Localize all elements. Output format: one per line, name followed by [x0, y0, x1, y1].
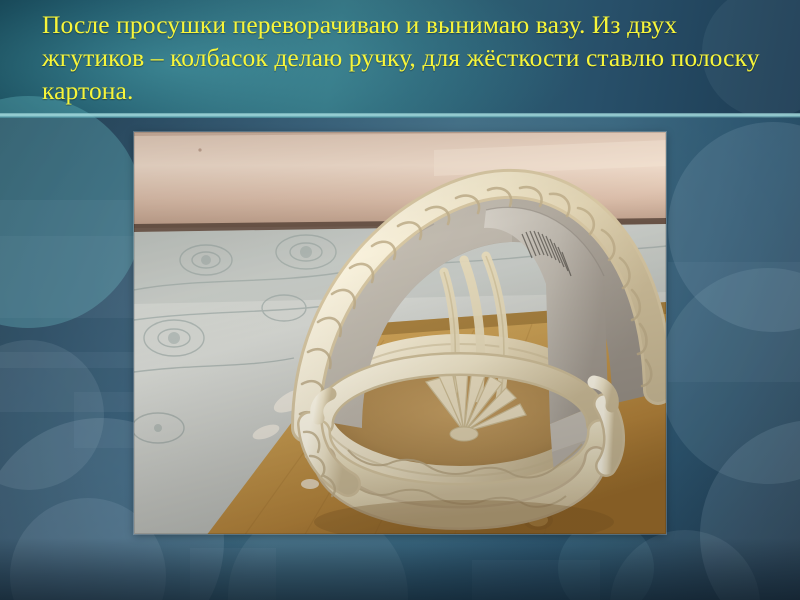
presentation-slide: После просушки переворачиваю и вынимаю в… [0, 0, 800, 600]
slide-photo [134, 132, 666, 534]
background-bottom-fade [0, 538, 800, 600]
title-divider [0, 113, 800, 118]
slide-title: После просушки переворачиваю и вынимаю в… [42, 8, 768, 107]
photo-illustration [134, 132, 666, 534]
